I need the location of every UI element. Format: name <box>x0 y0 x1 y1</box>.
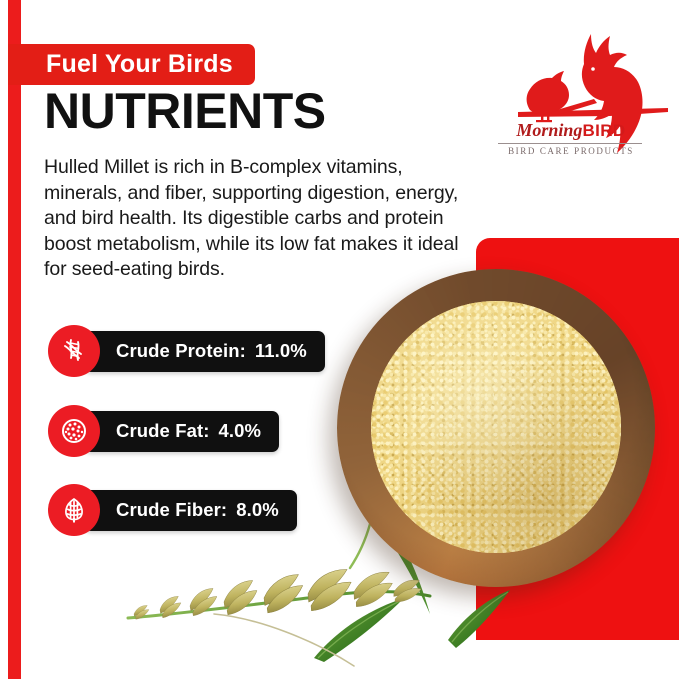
description-text: Hulled Millet is rich in B-complex vitam… <box>44 155 462 283</box>
left-accent-bar <box>8 0 21 679</box>
dna-helix-icon <box>48 325 100 377</box>
nutrient-value: 8.0% <box>236 499 279 521</box>
nutrient-label: Crude Fiber: <box>116 499 227 521</box>
logo-bird-text: BIRD <box>582 121 625 140</box>
small-bird-icon <box>527 71 569 113</box>
nutrient-pill: Crude Protein: 11.0% <box>84 331 325 372</box>
nutrient-value: 11.0% <box>255 340 307 362</box>
logo-tagline: BIRD CARE PRODUCTS <box>496 146 646 156</box>
ribbon-label: Fuel Your Birds <box>46 52 233 77</box>
nutrient-badge-crude-fat: Crude Fat: 4.0% <box>48 405 279 457</box>
leaf-right-icon <box>448 590 510 648</box>
fuel-your-birds-ribbon: Fuel Your Birds <box>8 44 255 85</box>
nutrient-pill: Crude Fat: 4.0% <box>84 411 279 452</box>
artichoke-fiber-icon <box>48 484 100 536</box>
leaf-center-icon <box>314 598 404 662</box>
nutrient-label: Crude Fat: <box>116 420 210 442</box>
page-title: NUTRIENTS <box>44 86 326 136</box>
millet-shading <box>371 301 621 553</box>
logo-wordmark: MorningBIRD BIRD CARE PRODUCTS <box>496 120 646 156</box>
nutrient-pill: Crude Fiber: 8.0% <box>84 490 297 531</box>
logo-morning-text: Morning <box>516 120 582 140</box>
fat-cell-icon <box>48 405 100 457</box>
wooden-bowl <box>337 269 655 587</box>
nutrients-infographic: MorningBIRD BIRD CARE PRODUCTS Fuel Your… <box>0 0 679 679</box>
nutrient-badge-crude-fiber: Crude Fiber: 8.0% <box>48 484 297 536</box>
morning-bird-logo: MorningBIRD BIRD CARE PRODUCTS <box>490 26 672 162</box>
millet-fill <box>371 301 621 553</box>
nutrient-value: 4.0% <box>219 420 262 442</box>
nutrient-badge-crude-protein: Crude Protein: 11.0% <box>48 325 325 377</box>
logo-divider <box>498 143 642 144</box>
nutrient-label: Crude Protein: <box>116 340 246 362</box>
